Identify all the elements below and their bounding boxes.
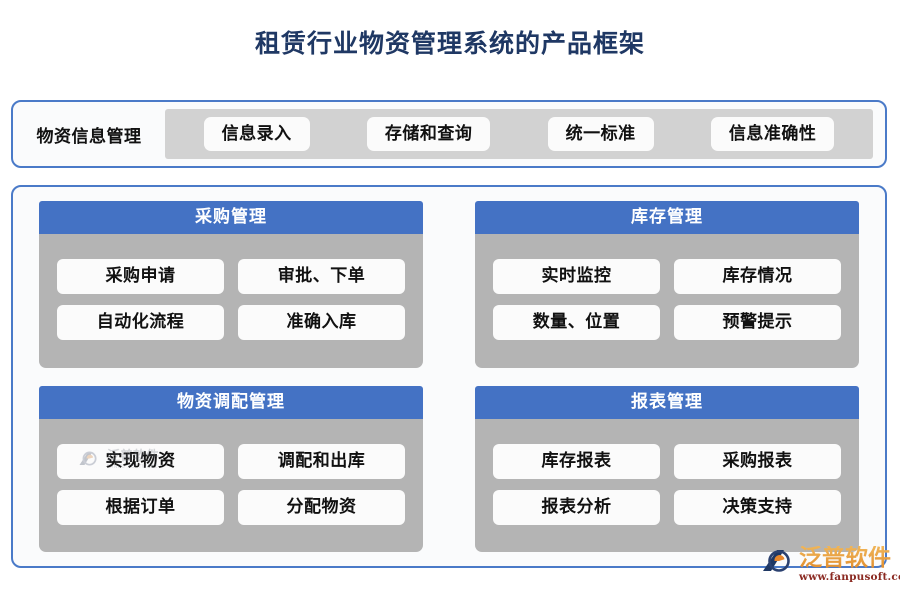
item-report-analysis[interactable]: 报表分析 [493, 490, 660, 525]
card-material-allocation-management: 物资调配管理 实现物资 调配和出库 根据订单 分配物资 [39, 386, 423, 553]
item-warning-alert[interactable]: 预警提示 [674, 305, 841, 340]
item-accurate-inbound[interactable]: 准确入库 [238, 305, 405, 340]
item-inventory-status[interactable]: 库存情况 [674, 259, 841, 294]
item-purchase-request[interactable]: 采购申请 [57, 259, 224, 294]
item-realize-materials[interactable]: 实现物资 [57, 444, 224, 479]
card-body-report: 库存报表 采购报表 报表分析 决策支持 [475, 419, 859, 553]
item-allocation-outbound[interactable]: 调配和出库 [238, 444, 405, 479]
fanpu-brand-logo: 泛普软件 www.fanpusoft.com [762, 546, 894, 590]
top-panel-label: 物资信息管理 [13, 122, 165, 147]
item-approval-order[interactable]: 审批、下单 [238, 259, 405, 294]
item-inventory-report[interactable]: 库存报表 [493, 444, 660, 479]
card-inventory-management: 库存管理 实时监控 库存情况 数量、位置 预警提示 [475, 201, 859, 368]
item-procurement-report[interactable]: 采购报表 [674, 444, 841, 479]
module-card-grid: 采购管理 采购申请 审批、下单 自动化流程 准确入库 库存管理 实时监控 库存情… [39, 201, 859, 552]
top-item-info-entry[interactable]: 信息录入 [204, 117, 310, 151]
card-report-management: 报表管理 库存报表 采购报表 报表分析 决策支持 [475, 386, 859, 553]
item-decision-support[interactable]: 决策支持 [674, 490, 841, 525]
card-body-inventory: 实时监控 库存情况 数量、位置 预警提示 [475, 234, 859, 368]
card-body-allocation: 实现物资 调配和出库 根据订单 分配物资 [39, 419, 423, 553]
fanpu-brand-url: www.fanpusoft.com [799, 571, 900, 584]
fanpu-brand-text: 泛普软件 www.fanpusoft.com [799, 546, 900, 584]
item-automated-process[interactable]: 自动化流程 [57, 305, 224, 340]
card-header-inventory: 库存管理 [475, 201, 859, 234]
fanpu-logo-icon [762, 547, 798, 577]
materials-info-management-panel: 物资信息管理 信息录入 存储和查询 统一标准 信息准确性 [11, 100, 887, 168]
card-body-procurement: 采购申请 审批、下单 自动化流程 准确入库 [39, 234, 423, 368]
item-based-on-order[interactable]: 根据订单 [57, 490, 224, 525]
fanpu-brand-cn: 泛普软件 [799, 546, 900, 571]
top-item-unified-standard[interactable]: 统一标准 [548, 117, 654, 151]
item-realtime-monitoring[interactable]: 实时监控 [493, 259, 660, 294]
item-quantity-location[interactable]: 数量、位置 [493, 305, 660, 340]
card-procurement-management: 采购管理 采购申请 审批、下单 自动化流程 准确入库 [39, 201, 423, 368]
item-distribute-materials[interactable]: 分配物资 [238, 490, 405, 525]
card-header-report: 报表管理 [475, 386, 859, 419]
top-item-storage-query[interactable]: 存储和查询 [367, 117, 491, 151]
top-item-info-accuracy[interactable]: 信息准确性 [711, 117, 835, 151]
modules-panel: 采购管理 采购申请 审批、下单 自动化流程 准确入库 库存管理 实时监控 库存情… [11, 185, 887, 568]
card-header-procurement: 采购管理 [39, 201, 423, 234]
page-title: 租赁行业物资管理系统的产品框架 [0, 24, 900, 64]
card-header-allocation: 物资调配管理 [39, 386, 423, 419]
top-panel-item-strip: 信息录入 存储和查询 统一标准 信息准确性 [165, 109, 873, 159]
